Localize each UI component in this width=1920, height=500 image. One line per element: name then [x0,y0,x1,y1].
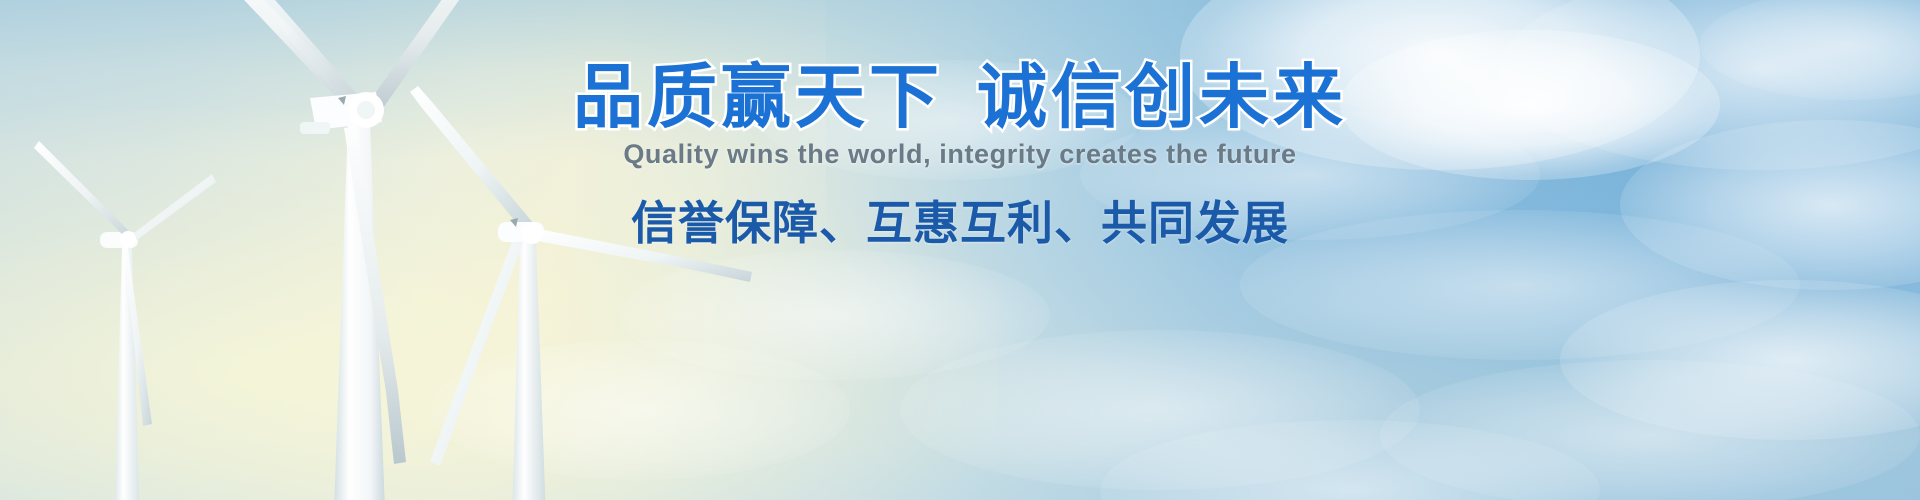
sky-vertical-tint [0,0,1920,500]
hero-banner: 品质赢天下诚信创未来 Quality wins the world, integ… [0,0,1920,500]
